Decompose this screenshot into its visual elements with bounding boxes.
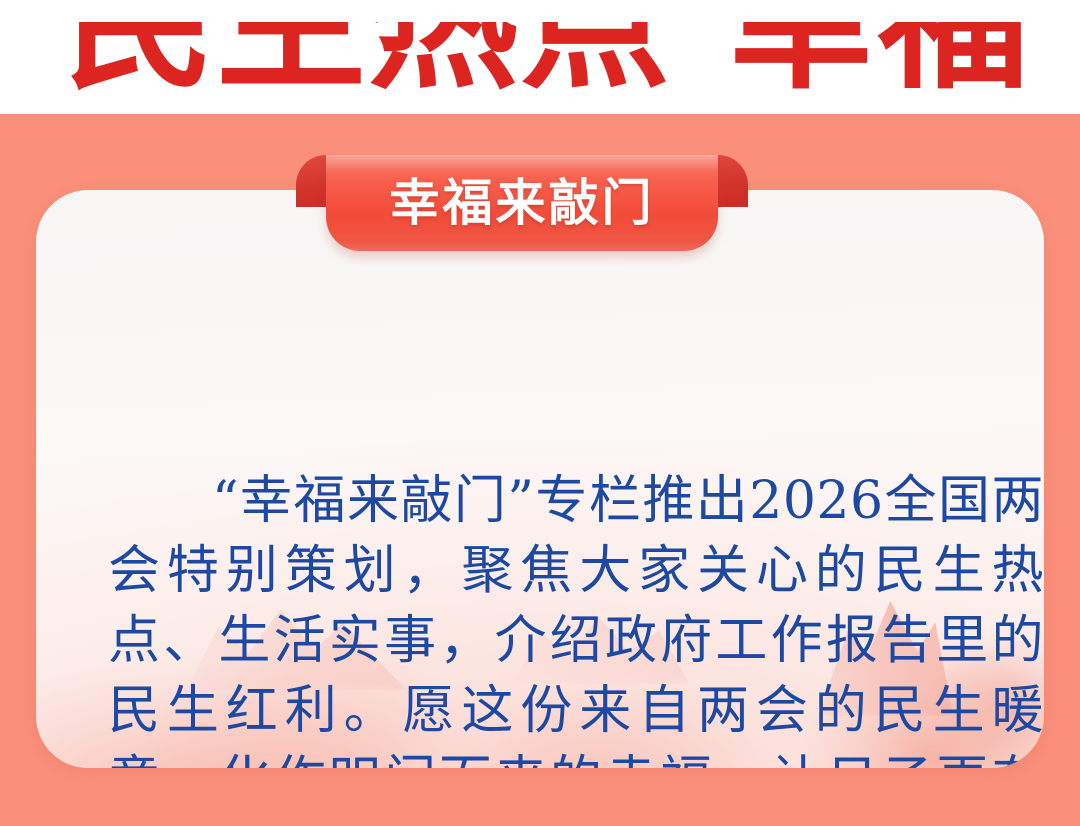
ribbon-title: 幸福来敲门 (390, 178, 655, 228)
ribbon-body: 幸福来敲门 (326, 155, 718, 251)
top-white-strip: 民生热点 幸福来敲门 (0, 0, 1080, 114)
article-paragraph: “幸福来敲门”专栏推出2026全国两会特别策划，聚焦大家关心的民生热点、生活实事… (108, 466, 1044, 768)
poster-canvas: 民生热点 幸福来敲门 “幸福来敲门”专栏推出2026全国两会特别策划，聚焦大家关… (0, 0, 1080, 826)
content-card: “幸福来敲门”专栏推出2026全国两会特别策划，聚焦大家关心的民生热点、生活实事… (36, 190, 1044, 768)
cropped-headline-banner: 民生热点 幸福来敲门 (64, 22, 1022, 114)
headline-text: 民生热点 幸福来敲门 (64, 22, 1022, 98)
section-ribbon: 幸福来敲门 (296, 155, 748, 251)
